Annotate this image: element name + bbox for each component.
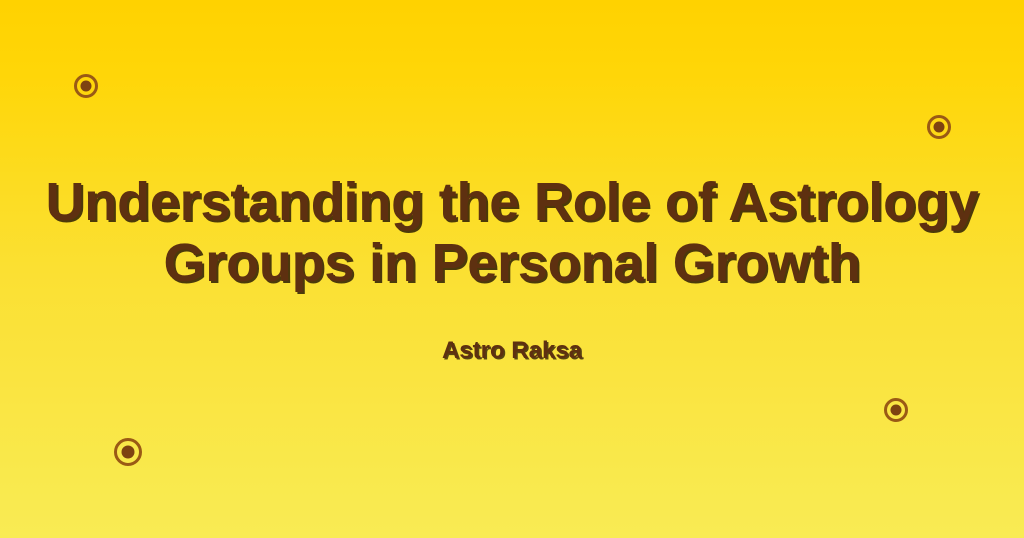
slide-subtitle: Astro Raksa bbox=[442, 337, 582, 366]
slide-text-block: Understanding the Role of Astrology Grou… bbox=[0, 0, 1024, 538]
title-slide: Understanding the Role of Astrology Grou… bbox=[0, 0, 1024, 538]
slide-title: Understanding the Role of Astrology Grou… bbox=[0, 172, 1024, 293]
